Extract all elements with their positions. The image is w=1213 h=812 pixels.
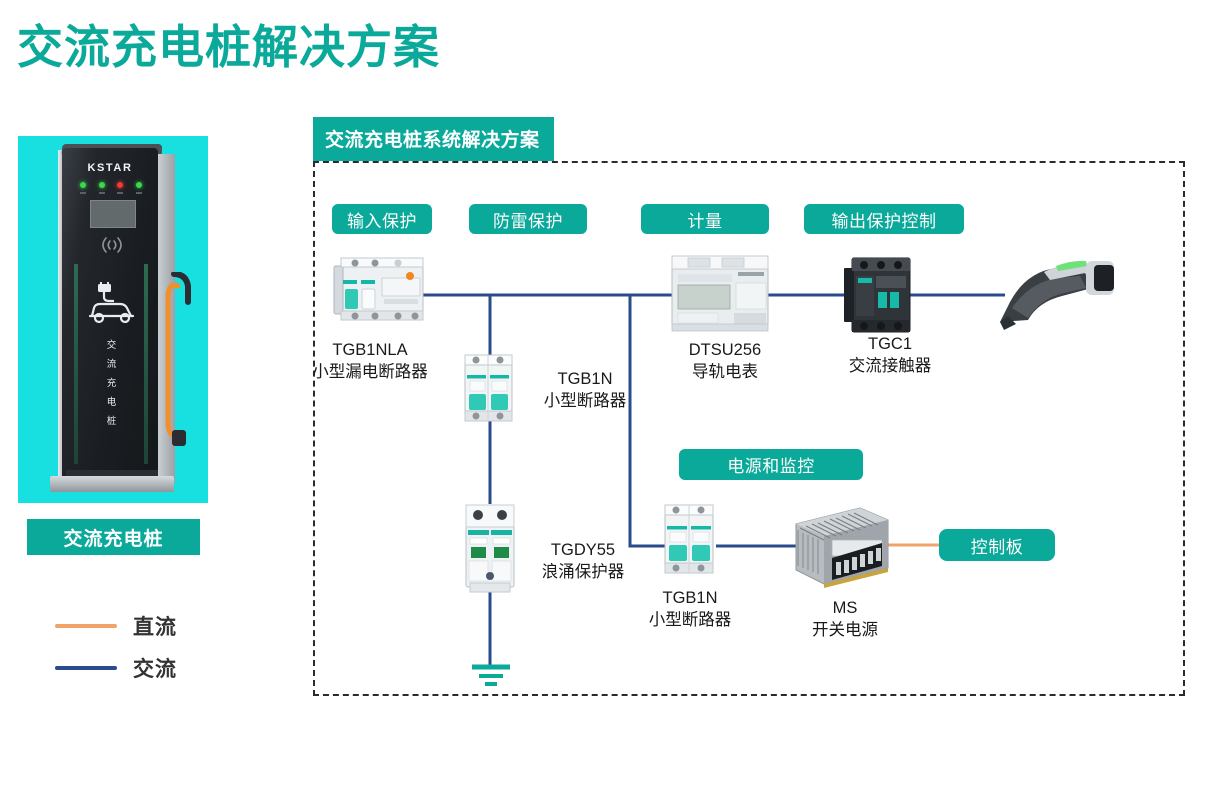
pile-vertical-text: 交流充电桩 xyxy=(92,336,132,431)
led-indicator-3 xyxy=(117,182,123,188)
pile-display-screen xyxy=(90,200,136,228)
device-model: TGDY55 xyxy=(523,540,643,562)
pile-led-indicators xyxy=(80,182,142,188)
device-caption-dtsu256: DTSU256 导轨电表 xyxy=(665,340,785,384)
legend-item-dc: 直流 xyxy=(55,605,245,647)
pile-brand-logo: KSTAR xyxy=(62,162,158,174)
charging-pile-image: KSTAR xyxy=(18,136,208,503)
device-name: 小型断路器 xyxy=(630,610,750,632)
device-caption-tgdy55: TGDY55 浪涌保护器 xyxy=(523,540,643,584)
device-name: 开关电源 xyxy=(790,620,900,642)
device-model: TGB1N xyxy=(525,369,645,391)
pile-charging-cable xyxy=(164,272,198,452)
stage-label-lightning-protection: 防雷保护 xyxy=(469,204,587,234)
pile-light-strip-right xyxy=(144,264,148,464)
legend: 直流 交流 xyxy=(55,605,245,689)
page-title: 交流充电桩解决方案 xyxy=(17,22,440,73)
device-name: 交流接触器 xyxy=(835,356,945,378)
device-caption-ms: MS 开关电源 xyxy=(790,598,900,642)
device-model: TGC1 xyxy=(835,334,945,356)
device-name: 导轨电表 xyxy=(665,362,785,384)
stage-label-metering: 计量 xyxy=(641,204,769,234)
ev-charging-icon xyxy=(84,282,140,324)
stage-label-control-board: 控制板 xyxy=(939,529,1055,561)
legend-label-dc: 直流 xyxy=(133,611,177,641)
pile-light-strip-left xyxy=(74,264,78,464)
device-name: 小型漏电断路器 xyxy=(300,362,440,384)
stage-label-output-protection-control: 输出保护控制 xyxy=(804,204,964,234)
led-indicator-2 xyxy=(99,182,105,188)
charging-pile-caption: 交流充电桩 xyxy=(27,519,200,555)
stage-label-input-protection: 输入保护 xyxy=(332,204,432,234)
pile-base-plate xyxy=(50,476,174,492)
device-model: TGB1NLA xyxy=(300,340,440,362)
legend-item-ac: 交流 xyxy=(55,647,245,689)
device-model: MS xyxy=(790,598,900,620)
device-caption-tgb1n-top: TGB1N 小型断路器 xyxy=(525,369,645,413)
legend-swatch-dc xyxy=(55,624,117,628)
stage-label-power-and-monitoring: 电源和监控 xyxy=(679,449,863,480)
device-caption-tgb1n-bottom: TGB1N 小型断路器 xyxy=(630,588,750,632)
device-name: 浪涌保护器 xyxy=(523,562,643,584)
legend-swatch-ac xyxy=(55,666,117,670)
device-model: TGB1N xyxy=(630,588,750,610)
system-title-badge: 交流充电桩系统解决方案 xyxy=(313,117,554,161)
device-model: DTSU256 xyxy=(665,340,785,362)
legend-label-ac: 交流 xyxy=(133,653,177,683)
rfid-icon xyxy=(92,234,132,258)
led-indicator-1 xyxy=(80,182,86,188)
device-caption-tgb1nla: TGB1NLA 小型漏电断路器 xyxy=(300,340,440,384)
device-name: 小型断路器 xyxy=(525,391,645,413)
device-caption-tgc1: TGC1 交流接触器 xyxy=(835,334,945,378)
pile-led-labels xyxy=(80,192,142,194)
led-indicator-4 xyxy=(136,182,142,188)
